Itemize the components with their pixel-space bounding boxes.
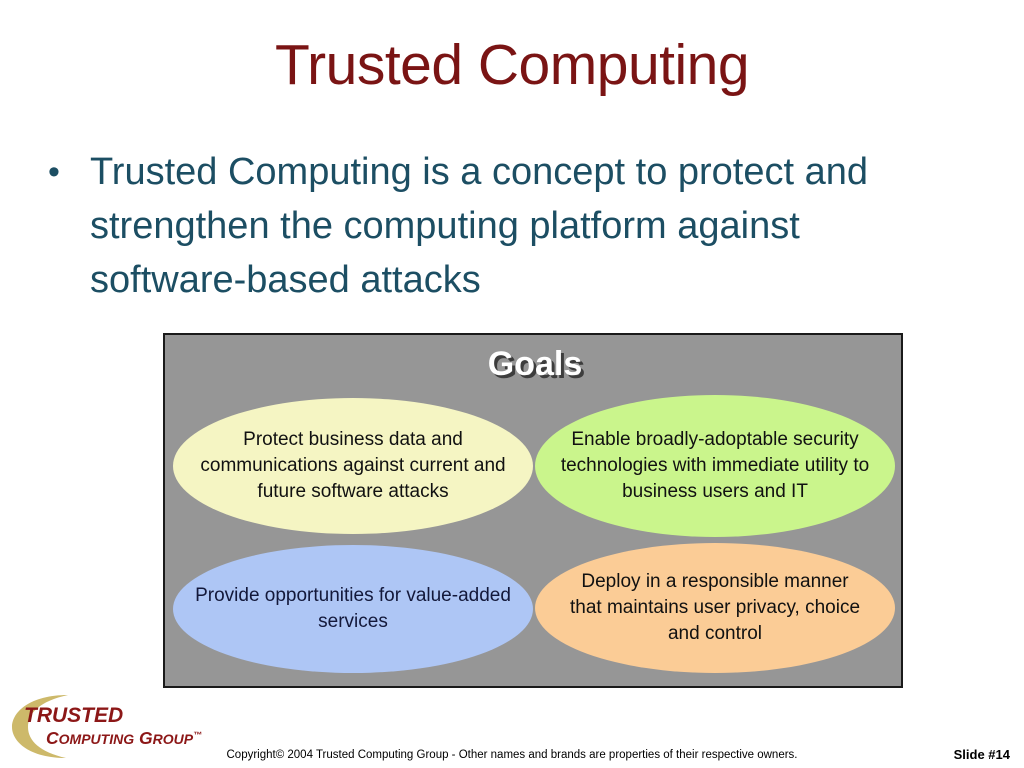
goal-ellipse-protect: Protect business data and communications… — [173, 398, 533, 534]
list-item: • Trusted Computing is a concept to prot… — [48, 145, 968, 307]
goal-ellipse-deploy: Deploy in a responsible manner that main… — [535, 543, 895, 673]
bullet-list: • Trusted Computing is a concept to prot… — [48, 145, 968, 307]
goal-ellipse-protect-label: Protect business data and communications… — [173, 427, 533, 505]
goal-ellipse-provide-label: Provide opportunities for value-added se… — [173, 583, 533, 635]
goal-ellipse-provide: Provide opportunities for value-added se… — [173, 545, 533, 673]
goal-ellipse-enable-label: Enable broadly-adoptable security techno… — [535, 427, 895, 505]
goals-heading: Goals — [165, 344, 905, 384]
page-title: Trusted Computing — [0, 34, 1024, 96]
goals-diagram: Goals Protect business data and communic… — [163, 333, 903, 688]
logo-line2-text: COMPUTING GROUP™ — [46, 728, 202, 748]
bullet-point-icon: • — [48, 145, 90, 199]
goal-ellipse-enable: Enable broadly-adoptable security techno… — [535, 395, 895, 537]
copyright-notice: Copyright© 2004 Trusted Computing Group … — [0, 748, 1024, 762]
goal-ellipse-deploy-label: Deploy in a responsible manner that main… — [535, 569, 895, 647]
logo-line1-text: TRUSTED — [24, 704, 123, 727]
slide-number: Slide #14 — [954, 746, 1010, 763]
bullet-text: Trusted Computing is a concept to protec… — [90, 145, 945, 307]
